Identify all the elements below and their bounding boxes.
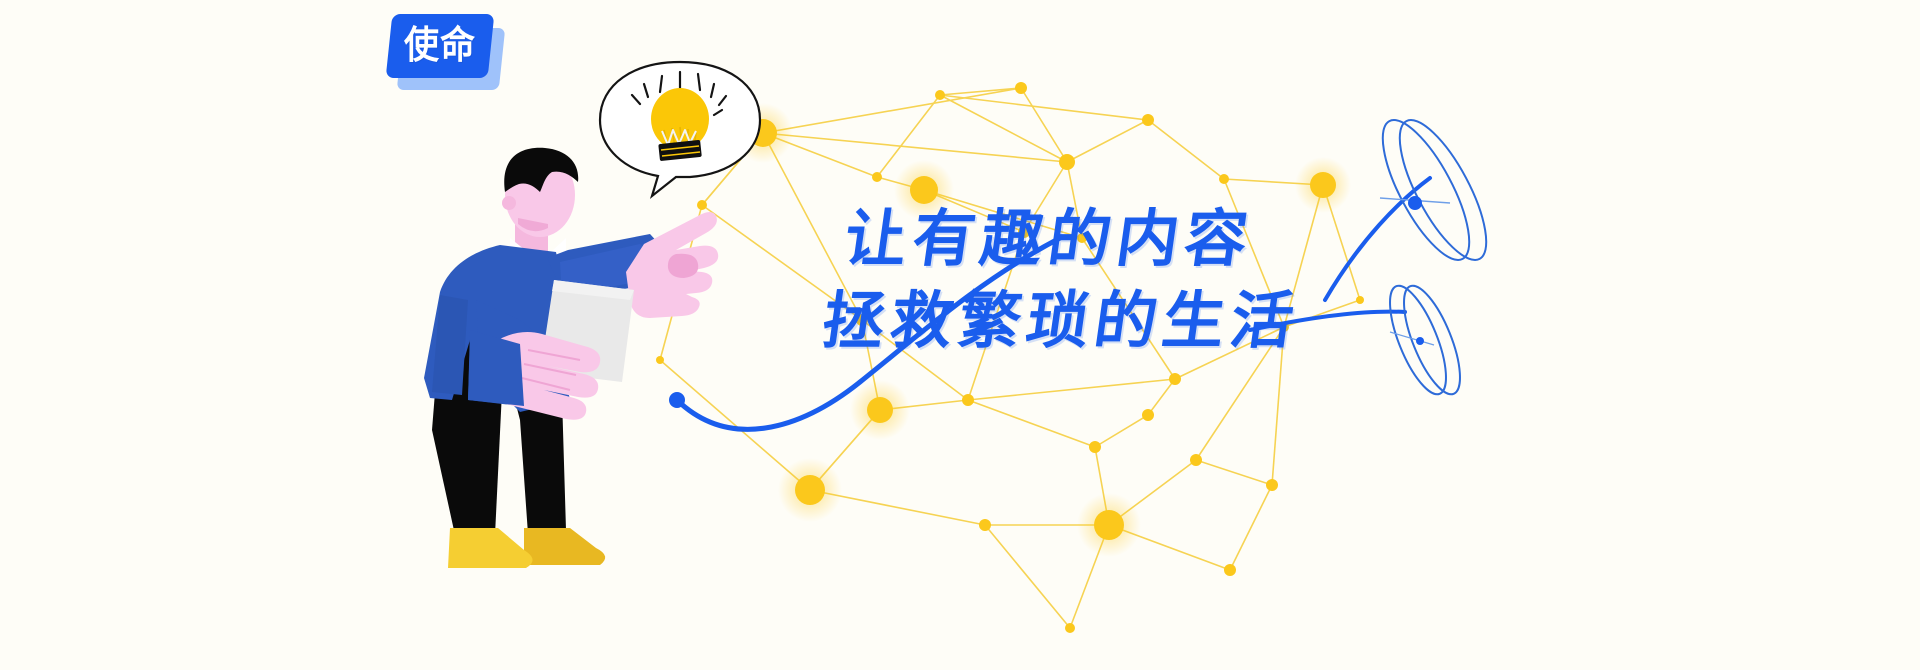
badge-label: 使命 — [404, 27, 476, 65]
mission-badge[interactable]: 使命 — [389, 14, 501, 92]
badge-body[interactable]: 使命 — [386, 14, 495, 78]
mission-banner: 让有趣的内容 拯救繁琐的生活 — [0, 0, 1920, 670]
badge-layer: 使命 — [0, 0, 1920, 670]
